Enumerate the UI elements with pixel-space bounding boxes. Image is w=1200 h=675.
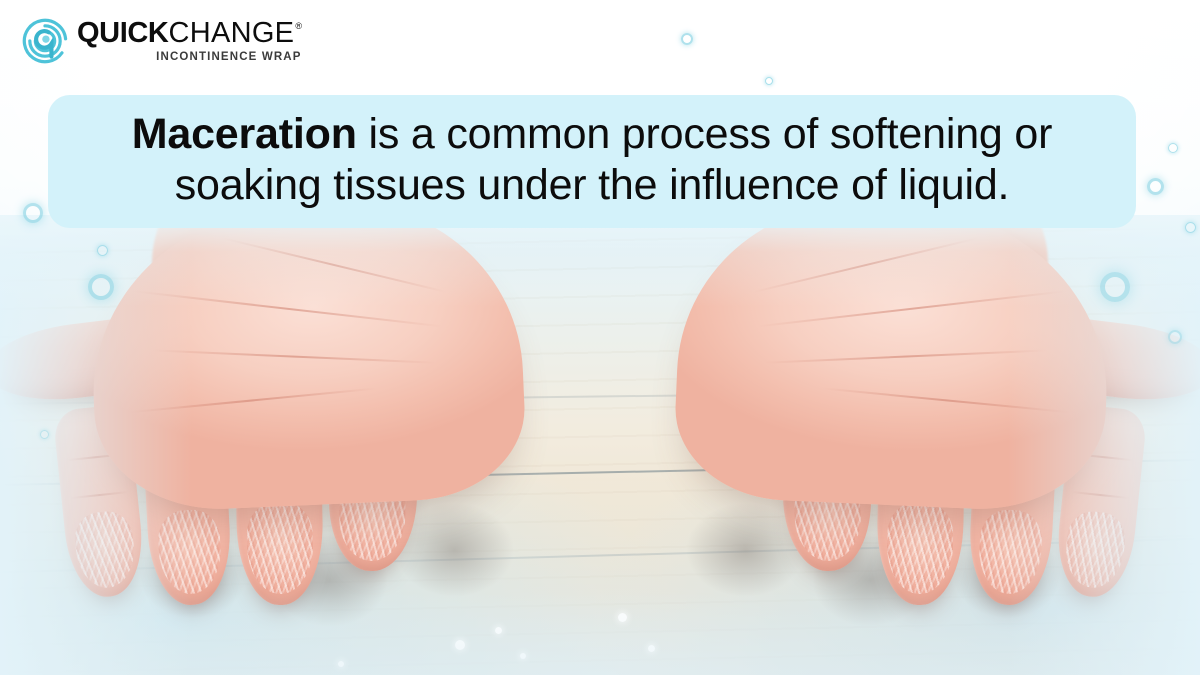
brand-name-change: CHANGE [168,19,294,48]
registered-trademark-icon: ® [295,22,301,31]
headline-banner: Maceration is a common process of soften… [48,95,1136,228]
brand-tagline: INCONTINENCE WRAP [156,52,301,64]
water-droplet [520,653,526,659]
water-droplet [495,627,502,634]
water-droplet [338,661,344,667]
headline-emphasis: Maceration [132,110,357,158]
brand-logo[interactable]: QUICKCHANGE® INCONTINENCE WRAP [22,18,302,64]
macerated-fingertip [887,502,954,594]
macerated-fingertip [247,502,314,594]
water-droplet [648,645,655,652]
macerated-fingertip [156,508,223,596]
headline-line-2: soaking tissues under the influence of l… [66,160,1118,211]
brand-wordmark: QUICKCHANGE® INCONTINENCE WRAP [77,19,302,64]
water-droplet [618,613,627,622]
macerated-fingertip [977,508,1044,596]
macerated-fingertip [72,508,137,590]
spiral-swirl-icon [22,18,68,64]
infographic-canvas: QUICKCHANGE® INCONTINENCE WRAP Maceratio… [0,0,1200,675]
headline-line-1: Maceration is a common process of soften… [66,109,1118,160]
brand-name-quick: QUICK [77,19,168,48]
water-droplet [455,640,465,650]
hands-photograph [0,215,1200,675]
macerated-fingertip [1062,508,1127,590]
headline-line-1-rest: is a common process of softening or [357,110,1052,158]
